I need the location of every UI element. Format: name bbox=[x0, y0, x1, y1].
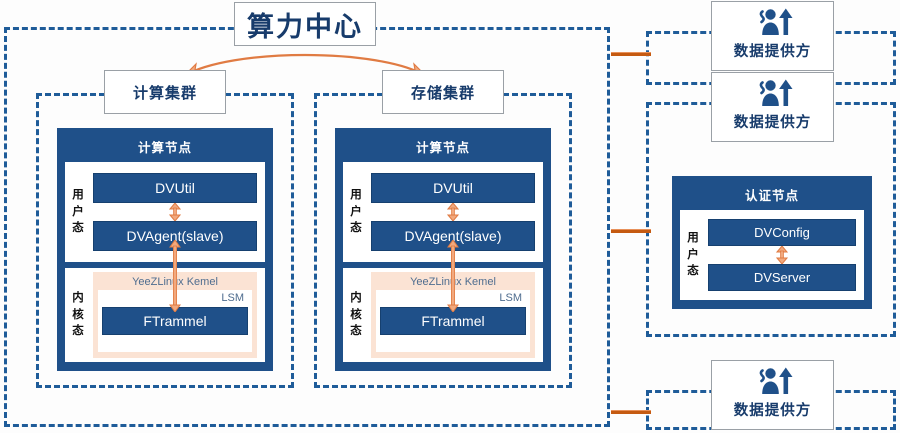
user-mode-char-2: 态 bbox=[350, 220, 362, 237]
data-provider-card-1[interactable]: 数据提供方 bbox=[711, 72, 834, 142]
node-title-1: 计算节点 bbox=[343, 134, 543, 162]
lsm-region-1: LSM FTrammel bbox=[376, 290, 530, 352]
kernel-region-label-0: YeeZLinux Kemel bbox=[98, 275, 252, 290]
auth-user-mode-section: 用 户 态 DVConfig DVServer bbox=[680, 210, 864, 300]
person-upload-icon bbox=[752, 365, 794, 397]
auth-user-mode-label: 用 户 态 bbox=[680, 210, 706, 300]
kernel-mode-char-0: 内 bbox=[72, 290, 84, 307]
auth-user-mode-body: DVConfig DVServer bbox=[706, 210, 864, 300]
ftrammel-chip-1[interactable]: FTrammel bbox=[380, 307, 526, 335]
dvagent-chip-0[interactable]: DVAgent(slave) bbox=[93, 221, 257, 251]
kernel-mode-label-0: 内 核 态 bbox=[65, 268, 91, 362]
page-title-text: 算力中心 bbox=[247, 5, 363, 44]
user-mode-char-1: 户 bbox=[350, 204, 362, 221]
kernel-mode-section-0: 内 核 态 YeeZLinux Kemel LSM FTrammel bbox=[65, 268, 265, 362]
auth-node-title: 认证节点 bbox=[680, 182, 864, 210]
user-mode-section-0: 用 户 态 DVUtil DVAgent(slave) bbox=[65, 162, 265, 262]
connector-link-1 bbox=[611, 229, 651, 233]
kernel-region-label-1: YeeZLinux Kemel bbox=[376, 275, 530, 290]
user-mode-body-0: DVUtil DVAgent(slave) bbox=[91, 162, 265, 262]
cluster-label-1: 存储集群 bbox=[382, 70, 504, 114]
kernel-wrap-0: YeeZLinux Kemel LSM FTrammel bbox=[91, 268, 265, 362]
compute-node-0: 计算节点 用 户 态 DVUtil DVAgent(slave) bbox=[57, 128, 273, 371]
auth-user-mode-char-2: 态 bbox=[687, 263, 699, 280]
user-mode-char-0: 用 bbox=[350, 187, 362, 204]
lsm-label-0: LSM bbox=[102, 292, 248, 304]
kernel-mode-label-1: 内 核 态 bbox=[343, 268, 369, 362]
node-title-0: 计算节点 bbox=[65, 134, 265, 162]
person-upload-icon bbox=[752, 6, 794, 38]
user-mode-char-0: 用 bbox=[72, 187, 84, 204]
kernel-mode-char-1: 核 bbox=[350, 307, 362, 324]
lsm-label-1: LSM bbox=[380, 292, 526, 304]
ftrammel-chip-0[interactable]: FTrammel bbox=[102, 307, 248, 335]
compute-node-1: 计算节点 用 户 态 DVUtil DVAgent(slave) bbox=[335, 128, 551, 371]
user-mode-label-0: 用 户 态 bbox=[65, 162, 91, 262]
yeezlinux-kernel-region-1: YeeZLinux Kemel LSM FTrammel bbox=[371, 272, 535, 358]
user-mode-body-1: DVUtil DVAgent(slave) bbox=[369, 162, 543, 262]
lsm-region-0: LSM FTrammel bbox=[98, 290, 252, 352]
user-mode-char-1: 户 bbox=[72, 204, 84, 221]
yeezlinux-kernel-region-0: YeeZLinux Kemel LSM FTrammel bbox=[93, 272, 257, 358]
kernel-mode-char-1: 核 bbox=[72, 307, 84, 324]
dvutil-chip-0[interactable]: DVUtil bbox=[93, 173, 257, 203]
dvutil-dvagent-arrow-0 bbox=[93, 203, 257, 221]
data-provider-label-2: 数据提供方 bbox=[734, 399, 812, 420]
auth-node: 认证节点 用 户 态 DVConfig DVServer bbox=[672, 176, 872, 309]
auth-user-mode-char-0: 用 bbox=[687, 230, 699, 247]
kernel-mode-char-2: 态 bbox=[350, 323, 362, 340]
person-upload-icon bbox=[752, 77, 794, 109]
dvutil-dvagent-arrow-1 bbox=[371, 203, 535, 221]
cluster-label-1-text: 存储集群 bbox=[411, 82, 475, 103]
data-provider-label-0: 数据提供方 bbox=[734, 40, 812, 61]
kernel-mode-char-0: 内 bbox=[350, 290, 362, 307]
kernel-mode-section-1: 内 核 态 YeeZLinux Kemel LSM FTrammel bbox=[343, 268, 543, 362]
architecture-diagram: 算力中心 计算集群 计算节点 用 户 态 DVUtil bbox=[0, 0, 900, 433]
kernel-wrap-1: YeeZLinux Kemel LSM FTrammel bbox=[369, 268, 543, 362]
user-mode-label-1: 用 户 态 bbox=[343, 162, 369, 262]
user-mode-char-2: 态 bbox=[72, 220, 84, 237]
dvagent-chip-1[interactable]: DVAgent(slave) bbox=[371, 221, 535, 251]
dvserver-chip[interactable]: DVServer bbox=[708, 264, 856, 291]
connector-link-2 bbox=[611, 410, 651, 414]
dvconfig-chip[interactable]: DVConfig bbox=[708, 219, 856, 246]
connector-link-0 bbox=[611, 52, 651, 56]
kernel-mode-char-2: 态 bbox=[72, 323, 84, 340]
cluster-label-0-text: 计算集群 bbox=[133, 82, 197, 103]
user-mode-section-1: 用 户 态 DVUtil DVAgent(slave) bbox=[343, 162, 543, 262]
dvconfig-dvserver-arrow bbox=[708, 246, 856, 264]
data-provider-label-1: 数据提供方 bbox=[734, 111, 812, 132]
cluster-label-0: 计算集群 bbox=[104, 70, 226, 114]
page-title: 算力中心 bbox=[234, 2, 376, 46]
data-provider-card-2[interactable]: 数据提供方 bbox=[711, 360, 834, 430]
dvutil-chip-1[interactable]: DVUtil bbox=[371, 173, 535, 203]
data-provider-card-0[interactable]: 数据提供方 bbox=[711, 1, 834, 71]
auth-user-mode-char-1: 户 bbox=[687, 247, 699, 264]
